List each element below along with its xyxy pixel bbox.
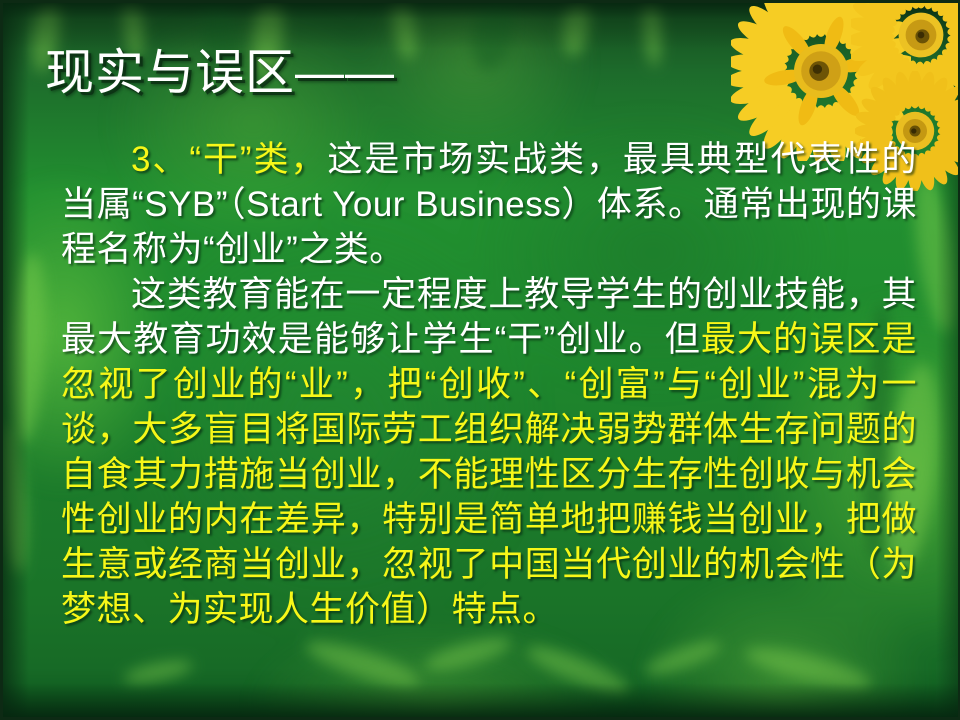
presentation-slide: 现实与误区—— 3、“干”类，这是市场实战类，最具典型代表性的当属“SYB”（S… [0, 0, 960, 720]
paragraph-1-highlight: 3、“干”类， [131, 140, 327, 179]
slide-body-text: 3、“干”类，这是市场实战类，最具典型代表性的当属“SYB”（Start You… [61, 137, 917, 632]
slide-title: 现实与误区—— [45, 49, 395, 98]
daisy-flower-icon [851, 0, 960, 105]
paragraph-2-highlight: 最大的误区是忽视了创业的“业”，把“创收”、“创富”与“创业”混为一谈，大多盲目… [61, 320, 917, 629]
body-paragraph-1: 3、“干”类，这是市场实战类，最具典型代表性的当属“SYB”（Start You… [61, 137, 917, 272]
body-paragraph-2: 这类教育能在一定程度上教导学生的创业技能，其最大教育功效是能够让学生“干”创业。… [61, 272, 917, 632]
